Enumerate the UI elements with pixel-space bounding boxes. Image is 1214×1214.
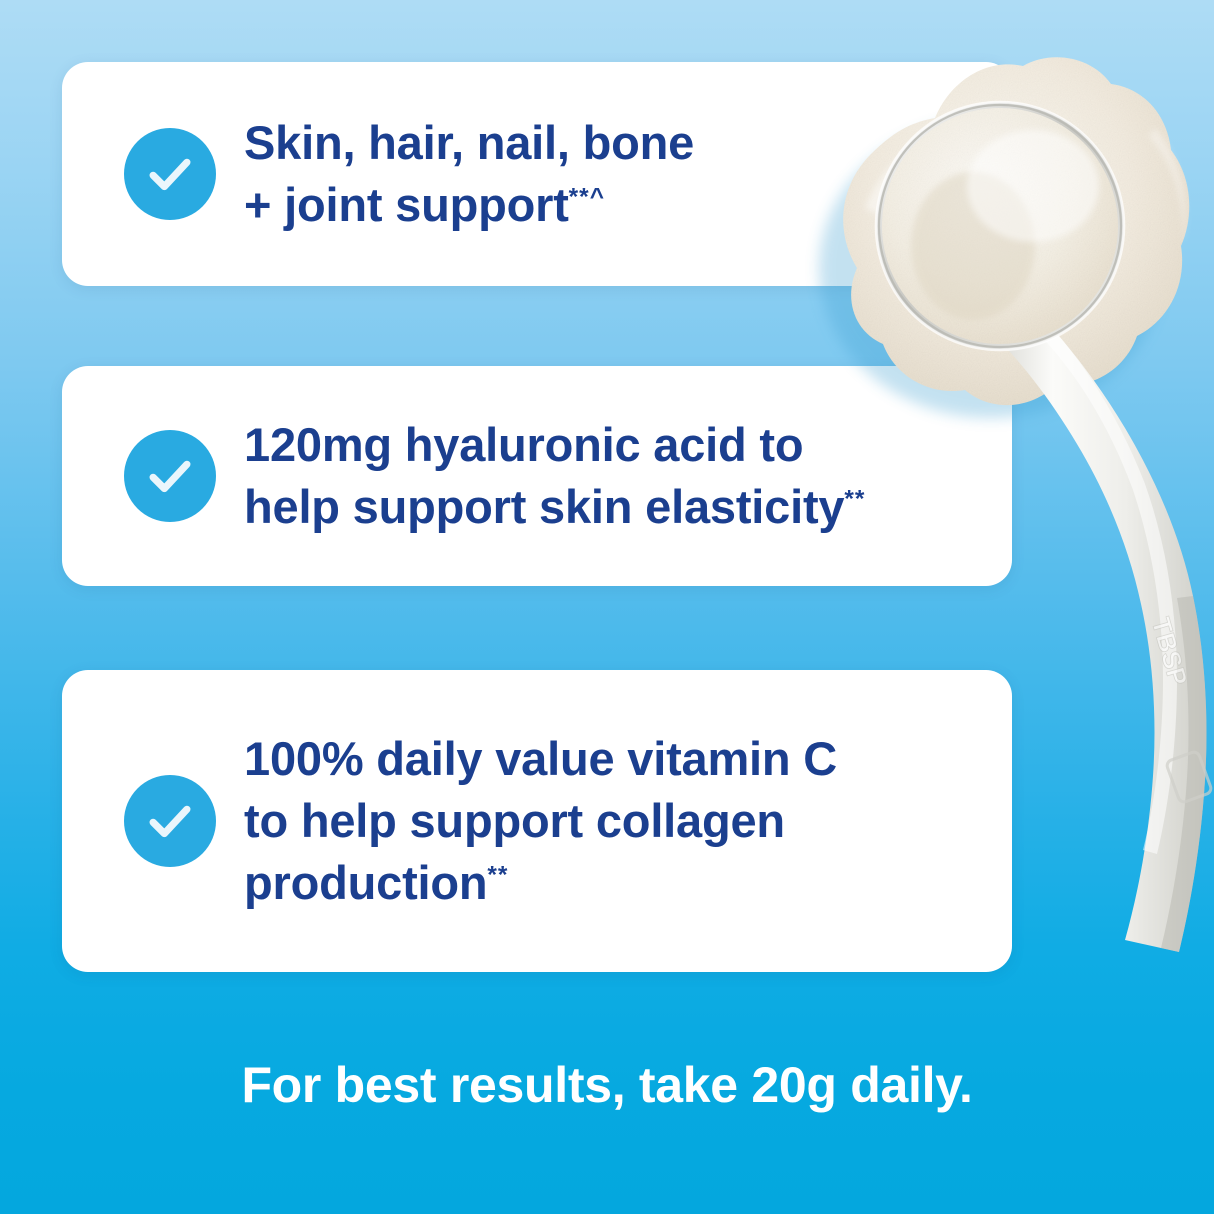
spoon-handle-slot [1166, 751, 1213, 804]
benefit-line-2: help support skin elasticity [244, 480, 844, 533]
benefit-text: 100% daily value vitamin C to help suppo… [244, 728, 847, 914]
benefit-line-3: production [244, 856, 487, 909]
spoon-tbsp-label: TBSP [1146, 614, 1194, 689]
check-icon [124, 775, 216, 867]
benefit-text: 120mg hyaluronic acid to help support sk… [244, 414, 875, 538]
spoon-handle [993, 306, 1207, 952]
svg-text:TBSP: TBSP [1146, 614, 1194, 689]
spoon-handle-highlight [1039, 322, 1177, 854]
usage-instruction-text: For best results, take 20g daily. [0, 1056, 1214, 1114]
spoon-handle-shade [1161, 596, 1207, 952]
benefit-line-2: to help support collagen [244, 794, 785, 847]
benefit-line-1: 100% daily value vitamin C [244, 732, 837, 785]
benefit-footnote-marker: ** [844, 485, 865, 512]
benefit-line-1: 120mg hyaluronic acid to [244, 418, 803, 471]
powder-edge-fuzz-right [1149, 128, 1186, 244]
check-icon [124, 430, 216, 522]
promo-graphic: TBSP Skin, hair, nail, bone + joint [0, 0, 1214, 1214]
benefit-footnote-marker: **^ [569, 183, 605, 210]
check-icon [124, 128, 216, 220]
benefit-card-skin-hair-nail-bone-joint[interactable]: Skin, hair, nail, bone + joint support**… [62, 62, 1012, 286]
benefit-line-1: Skin, hair, nail, bone [244, 116, 694, 169]
benefit-card-vitamin-c-collagen[interactable]: 100% daily value vitamin C to help suppo… [62, 670, 1012, 972]
benefit-footnote-marker: ** [487, 861, 508, 888]
benefit-text: Skin, hair, nail, bone + joint support**… [244, 112, 704, 236]
benefit-line-2: + joint support [244, 178, 569, 231]
benefit-card-hyaluronic-acid[interactable]: 120mg hyaluronic acid to help support sk… [62, 366, 1012, 586]
